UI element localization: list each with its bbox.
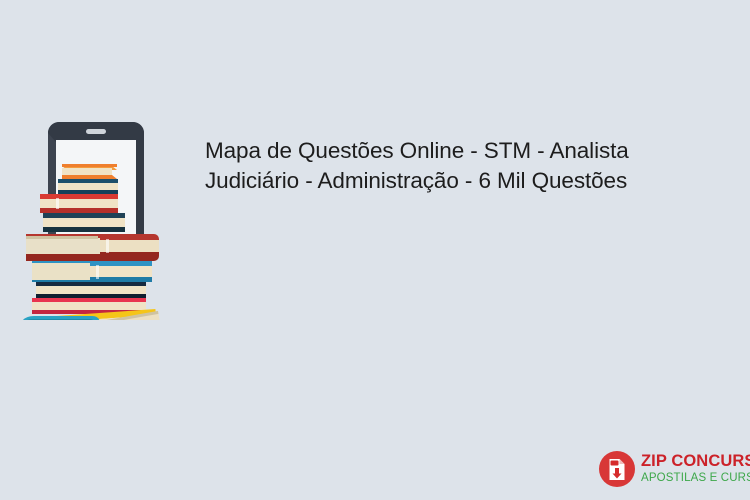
- product-title-line-1: Mapa de Questões Online - STM - Analista: [205, 136, 683, 166]
- book-crimson-fifth: [26, 234, 159, 261]
- product-banner: Mapa de Questões Online - STM - Analista…: [0, 0, 750, 500]
- book-navy-seventh: [36, 282, 146, 298]
- zip-concursos-logo[interactable]: ZIP CONCURSOS APOSTILAS E CURSOS: [598, 448, 738, 490]
- logo-primary-text: ZIP CONCURSOS: [641, 453, 750, 470]
- logo-secondary-text: APOSTILAS E CURSOS: [641, 471, 750, 485]
- logo-text-block: ZIP CONCURSOS APOSTILAS E CURSOS: [641, 453, 750, 485]
- book-red-third: [40, 194, 118, 213]
- book-blue-sixth: [32, 261, 152, 282]
- book-navy-second: [58, 179, 118, 194]
- book-rolled-left: [20, 316, 100, 320]
- product-title: Mapa de Questões Online - STM - Analista…: [205, 136, 683, 196]
- book-darkblue-fourth: [43, 213, 125, 232]
- book-orange-top: [62, 164, 117, 179]
- stack-of-books-with-tablet-illustration: [10, 110, 180, 320]
- product-title-line-2: Judiciário - Administração - 6 Mil Quest…: [205, 166, 683, 196]
- pdf-download-circle-icon: [598, 450, 636, 488]
